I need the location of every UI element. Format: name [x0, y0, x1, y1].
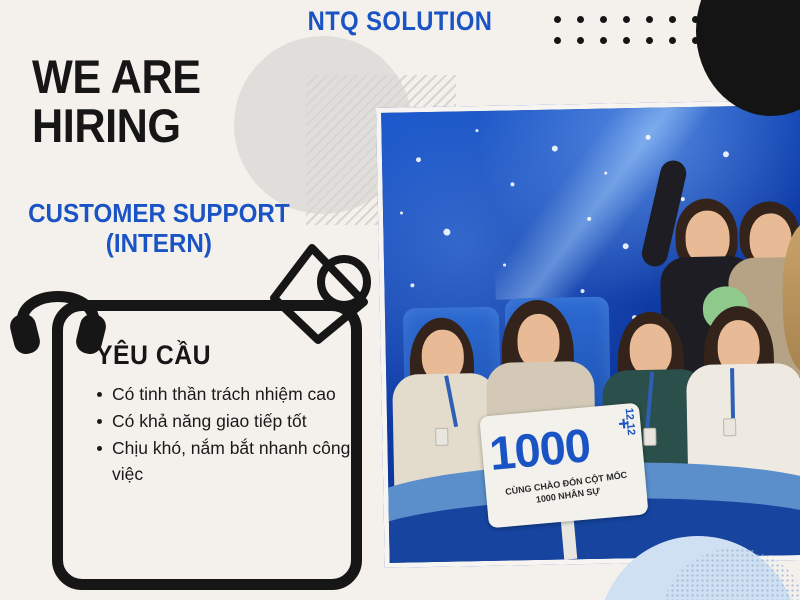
page-title: WE ARE HIRING — [32, 52, 201, 150]
star-particle — [416, 157, 421, 162]
star-particle — [681, 197, 685, 201]
grid-dot — [623, 37, 630, 44]
star-particle — [510, 182, 514, 186]
requirement-item: Chịu khó, nắm bắt nhanh công việc — [96, 435, 366, 487]
star-particle — [723, 151, 729, 157]
position-line-1: CUSTOMER SUPPORT — [28, 198, 290, 228]
star-particle — [604, 172, 607, 175]
headline-line-2: HIRING — [32, 101, 201, 150]
star-particle — [503, 264, 506, 267]
headline-line-1: WE ARE — [32, 52, 201, 101]
star-particle — [622, 243, 628, 249]
grid-dot — [554, 37, 561, 44]
grid-dot — [577, 37, 584, 44]
star-particle — [552, 146, 558, 152]
sign-date: 12.12 — [623, 407, 637, 435]
star-particle — [400, 212, 403, 215]
sign-number: 1000 — [487, 421, 591, 477]
star-particle — [646, 135, 651, 140]
star-particle — [443, 229, 450, 236]
headphones-icon — [6, 258, 110, 362]
diamond-decoration-icon — [268, 236, 388, 356]
position-line-2: (INTERN) — [24, 228, 294, 258]
requirements-content: YÊU CẦU Có tinh thần trách nhiệm caoCó k… — [66, 340, 366, 488]
grid-dot — [646, 37, 653, 44]
job-position: CUSTOMER SUPPORT (INTERN) — [24, 198, 294, 258]
requirements-list: Có tinh thần trách nhiệm caoCó khả năng … — [96, 381, 366, 487]
team-photo: 1000 + 12.12 CÙNG CHÀO ĐÓN CỘT MỐC 1000 … — [376, 100, 800, 568]
star-particle — [475, 129, 478, 132]
star-particle — [588, 217, 592, 221]
star-particle — [410, 283, 414, 287]
requirement-item: Có tinh thần trách nhiệm cao — [96, 381, 366, 407]
grid-dot — [600, 37, 607, 44]
grid-dot — [669, 37, 676, 44]
company-name: NTQ SOLUTION — [48, 6, 752, 37]
star-particle — [580, 289, 584, 293]
sign-board: 1000 + 12.12 CÙNG CHÀO ĐÓN CỘT MỐC 1000 … — [479, 403, 648, 529]
requirement-item: Có khả năng giao tiếp tốt — [96, 408, 366, 434]
milestone-sign: 1000 + 12.12 CÙNG CHÀO ĐÓN CỘT MỐC 1000 … — [479, 403, 648, 529]
recruitment-poster: 1000 + 12.12 CÙNG CHÀO ĐÓN CỘT MỐC 1000 … — [0, 0, 800, 600]
